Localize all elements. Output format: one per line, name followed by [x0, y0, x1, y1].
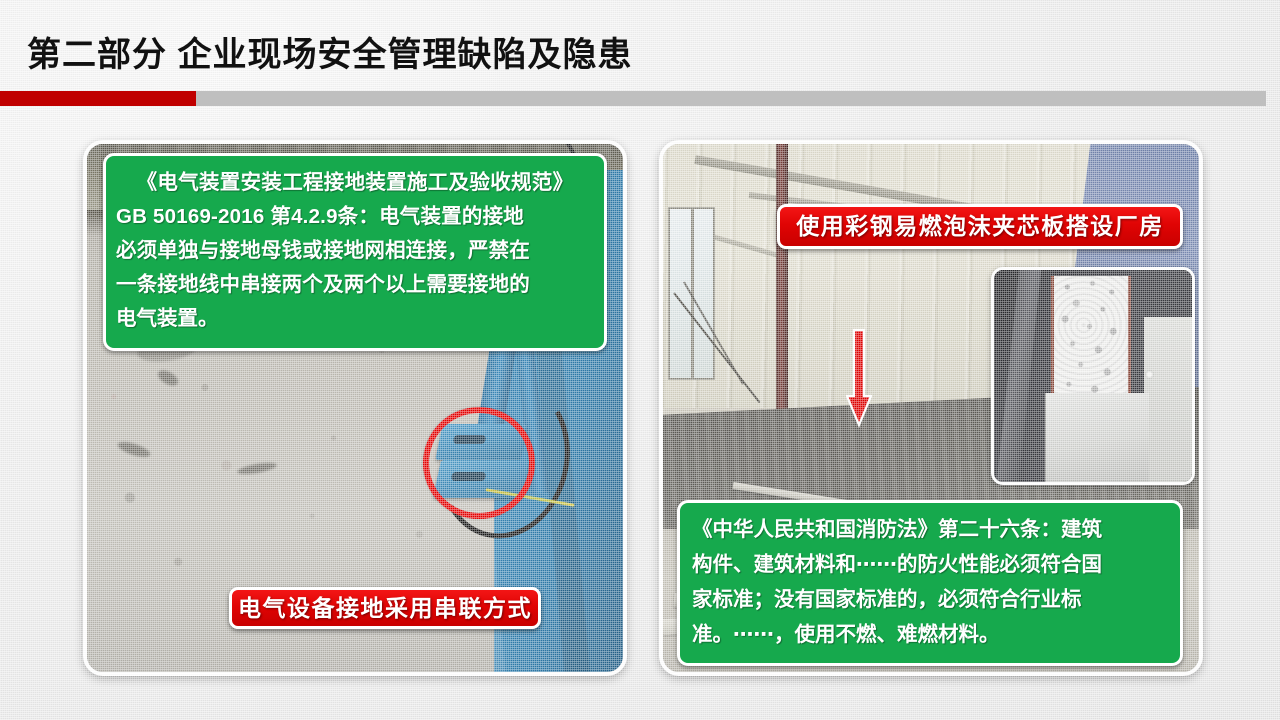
- legal-line: 准。⋯⋯，使用不燃、难燃材料。: [692, 617, 1168, 652]
- inset-screw-head: [1145, 370, 1154, 379]
- foam-core-closeup-photo: [991, 267, 1195, 485]
- red-down-arrow-icon: [846, 328, 872, 428]
- right-caption-badge: 使用彩钢易燃泡沫夹芯板搭设厂房: [777, 204, 1183, 249]
- inset-adjacent-panel: [1144, 317, 1192, 482]
- legal-line: 《电气装置安装工程接地装置施工及验收规范》: [116, 166, 594, 200]
- left-caption-badge: 电气设备接地采用串联方式: [229, 587, 541, 629]
- legal-line: GB 50169-2016 第4.2.9条：电气装置的接地: [116, 200, 594, 234]
- inset-steel-face: [1045, 393, 1149, 482]
- right-legal-text-box: 《中华人民共和国消防法》第二十六条：建筑 构件、建筑材料和⋯⋯的防火性能必须符合…: [677, 500, 1183, 666]
- steel-column: [776, 144, 788, 445]
- red-circle-highlight: [423, 407, 535, 519]
- divider-gray-segment: [196, 91, 1266, 106]
- slide-canvas: 第二部分 企业现场安全管理缺陷及隐患: [0, 0, 1280, 720]
- left-legal-text-box: 《电气装置安装工程接地装置施工及验收规范》 GB 50169-2016 第4.2…: [103, 153, 607, 351]
- right-content-panel: 使用彩钢易燃泡沫夹芯板搭设厂房 《中华人民共和国消防法》第二十六条：建筑 构件、…: [659, 140, 1203, 676]
- legal-line: 电气装置。: [116, 302, 594, 336]
- left-content-panel: 《电气装置安装工程接地装置施工及验收规范》 GB 50169-2016 第4.2…: [83, 140, 627, 676]
- header-divider-bar: [0, 91, 1266, 106]
- legal-line: 家标准；没有国家标准的，必须符合行业标: [692, 582, 1168, 617]
- legal-line: 《中华人民共和国消防法》第二十六条：建筑: [692, 512, 1168, 547]
- legal-line: 必须单独与接地母钱或接地网相连接，严禁在: [116, 234, 594, 268]
- legal-line: 构件、建筑材料和⋯⋯的防火性能必须符合国: [692, 547, 1168, 582]
- divider-red-segment: [0, 91, 196, 106]
- legal-line: 一条接地线中串接两个及两个以上需要接地的: [116, 268, 594, 302]
- exposed-foam-core: [1051, 276, 1130, 399]
- page-title: 第二部分 企业现场安全管理缺陷及隐患: [27, 27, 632, 76]
